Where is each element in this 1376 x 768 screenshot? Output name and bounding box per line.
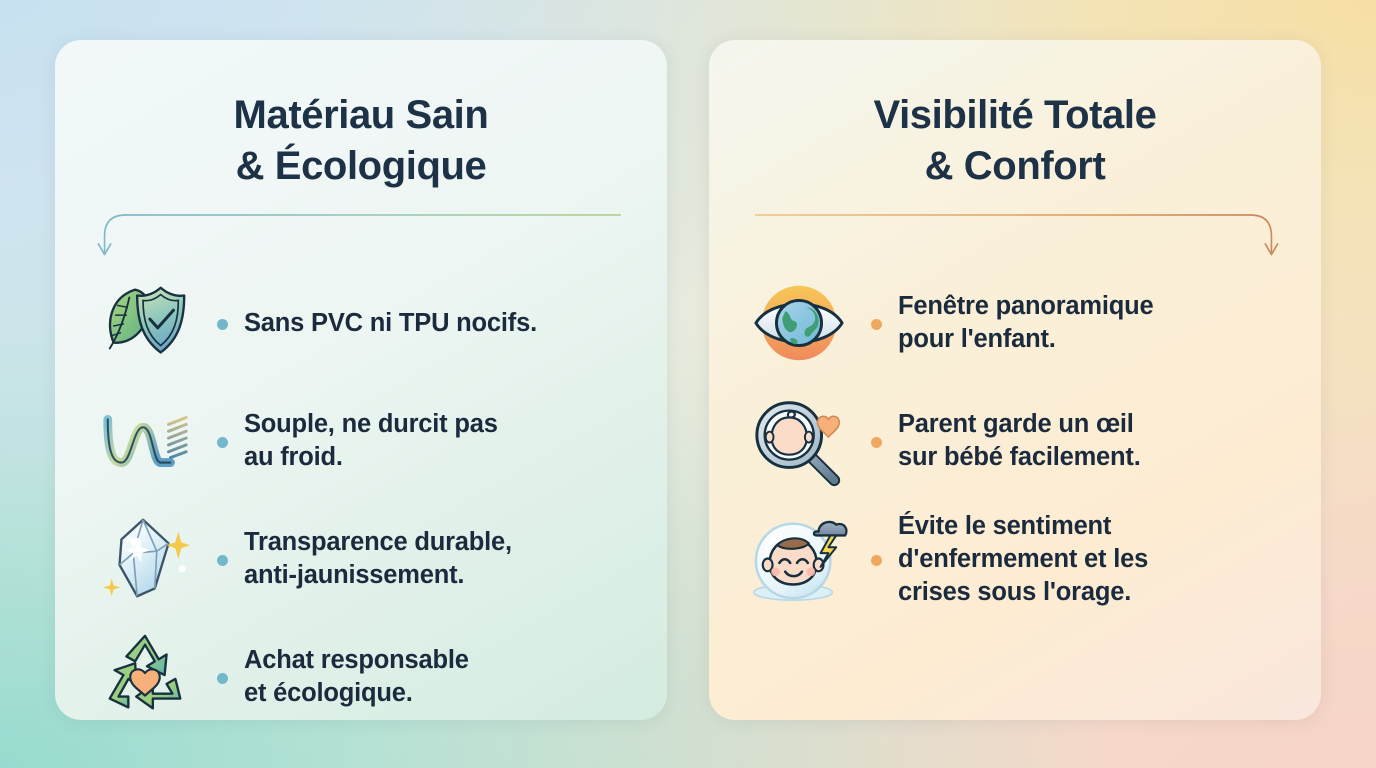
feature-text: Souple, ne durcit pas au froid. bbox=[244, 408, 498, 474]
panel-visibilite-totale: Visibilité Totale & Confort bbox=[709, 40, 1321, 720]
feature-row: Évite le sentiment d'enfermement et les … bbox=[743, 500, 1287, 618]
bullet-icon bbox=[871, 437, 882, 448]
recycle-heart-icon bbox=[89, 625, 201, 720]
crystal-sparkle-icon bbox=[89, 507, 201, 611]
feature-text: Fenêtre panoramique pour l'enfant. bbox=[898, 290, 1154, 356]
panel-title-left: Matériau Sain & Écologique bbox=[89, 90, 633, 192]
feature-text: Évite le sentiment d'enfermement et les … bbox=[898, 510, 1148, 609]
bullet-icon bbox=[871, 555, 882, 566]
feature-row: Fenêtre panoramique pour l'enfant. bbox=[743, 264, 1287, 382]
panel-title-right: Visibilité Totale & Confort bbox=[743, 90, 1287, 192]
feature-list-left: Sans PVC ni TPU nocifs. bbox=[89, 264, 633, 720]
feature-list-right: Fenêtre panoramique pour l'enfant. bbox=[743, 264, 1287, 618]
bullet-icon bbox=[217, 319, 228, 330]
leaf-shield-icon bbox=[89, 271, 201, 375]
infographic-stage: Matériau Sain & Écologique bbox=[0, 0, 1376, 768]
divider-arrow-right bbox=[751, 210, 1279, 266]
feature-row: Souple, ne durcit pas au froid. bbox=[89, 382, 633, 500]
panel-materiau-sain: Matériau Sain & Écologique bbox=[55, 40, 667, 720]
flexible-wave-spring-icon bbox=[89, 389, 201, 493]
feature-row: Sans PVC ni TPU nocifs. bbox=[89, 264, 633, 382]
feature-text: Transparence durable, anti-jaunissement. bbox=[244, 526, 512, 592]
bullet-icon bbox=[217, 673, 228, 684]
eye-globe-icon bbox=[743, 271, 855, 375]
baby-bubble-storm-icon bbox=[743, 507, 855, 611]
feature-row: Parent garde un œil sur bébé facilement. bbox=[743, 382, 1287, 500]
feature-row: Transparence durable, anti-jaunissement. bbox=[89, 500, 633, 618]
feature-row: Achat responsable et écologique. bbox=[89, 618, 633, 720]
feature-text: Achat responsable et écologique. bbox=[244, 644, 469, 710]
feature-text: Sans PVC ni TPU nocifs. bbox=[244, 307, 537, 340]
divider-arrow-left bbox=[97, 210, 625, 266]
magnifier-baby-heart-icon bbox=[743, 389, 855, 493]
feature-text: Parent garde un œil sur bébé facilement. bbox=[898, 408, 1141, 474]
bullet-icon bbox=[217, 437, 228, 448]
bullet-icon bbox=[217, 555, 228, 566]
bullet-icon bbox=[871, 319, 882, 330]
